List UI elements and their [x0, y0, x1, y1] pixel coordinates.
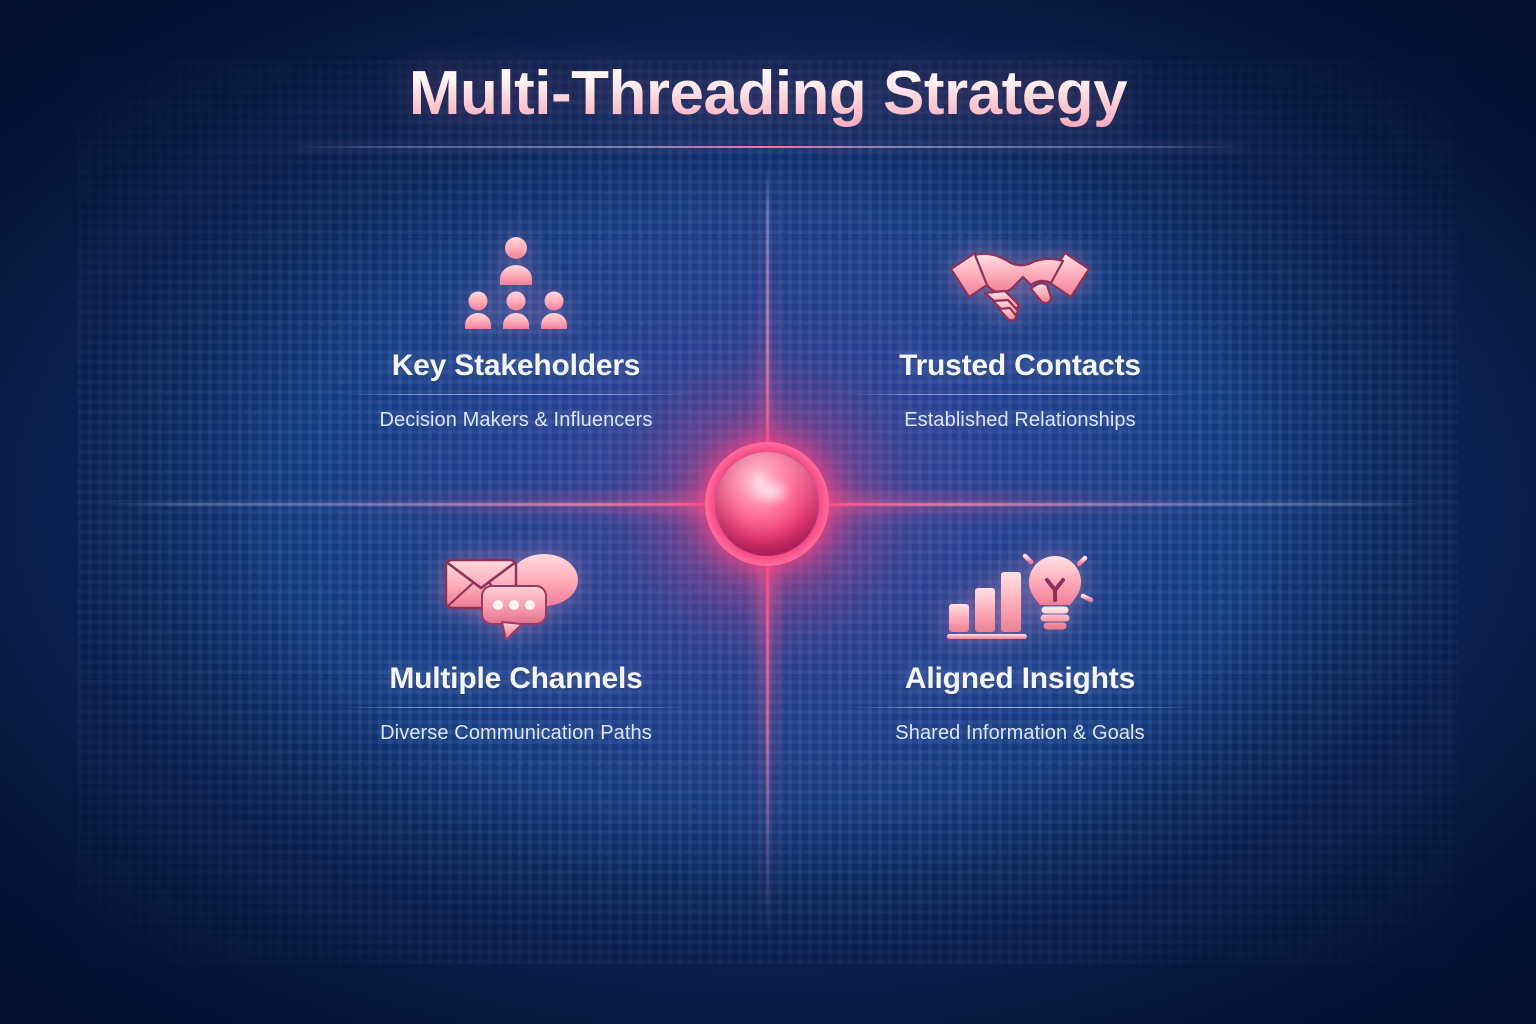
quadrant-divider — [848, 394, 1192, 395]
quadrant-multiple-channels: Multiple Channels Diverse Communication … — [326, 548, 706, 745]
quadrant-divider — [848, 707, 1192, 708]
title-container: Multi-Threading Strategy — [0, 58, 1536, 129]
infographic-canvas: Multi-Threading Strategy — [0, 0, 1536, 1024]
quadrant-divider — [344, 707, 688, 708]
quadrant-heading: Aligned Insights — [830, 662, 1210, 696]
quadrant-subtitle: Shared Information & Goals — [830, 722, 1210, 745]
handshake-icon — [830, 235, 1210, 331]
org-chart-people-icon — [326, 235, 706, 331]
quadrant-subtitle: Established Relationships — [830, 409, 1210, 432]
quadrant-key-stakeholders: Key Stakeholders Decision Makers & Influ… — [326, 235, 706, 432]
quadrant-heading: Multiple Channels — [326, 662, 706, 696]
quadrant-aligned-insights: Aligned Insights Shared Information & Go… — [830, 548, 1210, 745]
quadrant-divider — [344, 394, 688, 395]
quadrant-heading: Key Stakeholders — [326, 349, 706, 383]
quadrant-heading: Trusted Contacts — [830, 349, 1210, 383]
hub-specular-highlight — [748, 478, 792, 506]
quadrant-trusted-contacts: Trusted Contacts Established Relationshi… — [830, 235, 1210, 432]
quadrant-subtitle: Decision Makers & Influencers — [326, 409, 706, 432]
page-title: Multi-Threading Strategy — [409, 58, 1127, 129]
quadrant-subtitle: Diverse Communication Paths — [326, 722, 706, 745]
envelope-chat-bubbles-icon — [326, 548, 706, 644]
bar-chart-lightbulb-icon — [830, 548, 1210, 644]
title-underline-rule — [290, 146, 1246, 148]
